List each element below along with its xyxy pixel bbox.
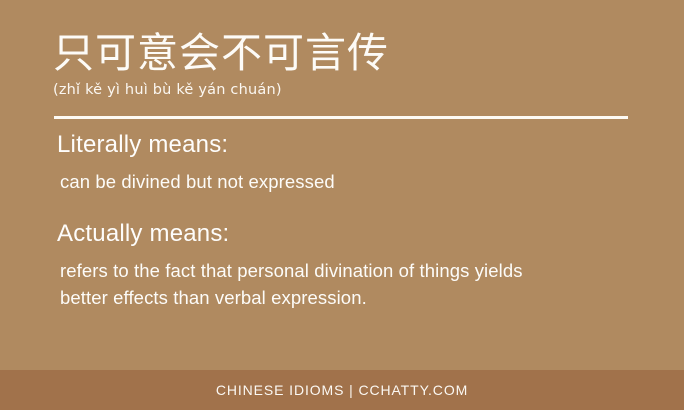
header-divider: [54, 116, 628, 119]
section-actual-heading: Actually means:: [53, 219, 653, 249]
section-literal-meaning: Literally means: can be divined but not …: [53, 130, 653, 195]
section-literal-line-1: can be divined but not expressed: [53, 168, 653, 195]
card-header: 只可意会不可言传 (zhǐ kě yì huì bù kě yán chuán): [53, 28, 633, 100]
section-actual-line-2: better effects than verbal expression.: [53, 284, 653, 311]
section-literal-heading: Literally means:: [53, 130, 653, 160]
idiom-card: 只可意会不可言传 (zhǐ kě yì huì bù kě yán chuán)…: [0, 0, 684, 410]
idiom-pinyin-subtitle: (zhǐ kě yì huì bù kě yán chuán): [53, 80, 633, 100]
idiom-hanzi-title: 只可意会不可言传: [53, 28, 633, 78]
footer-bar: CHINESE IDIOMS | CCHATTY.COM: [0, 370, 684, 410]
section-actual-meaning: Actually means: refers to the fact that …: [53, 219, 653, 311]
section-actual-line-1: refers to the fact that personal divinat…: [53, 257, 653, 284]
footer-branding-text: CHINESE IDIOMS | CCHATTY.COM: [216, 381, 468, 399]
